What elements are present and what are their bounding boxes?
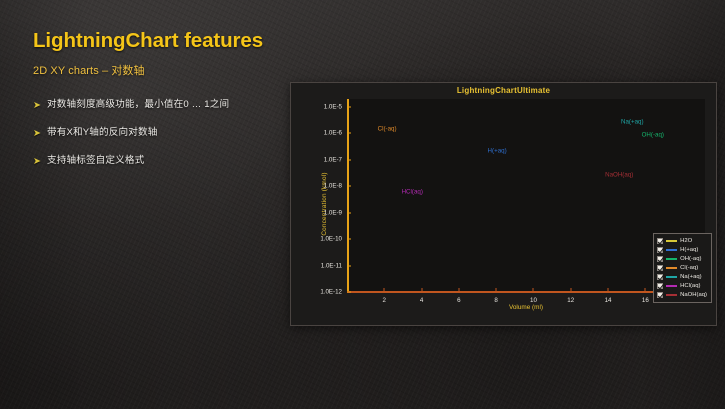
y-axis-line [347, 99, 349, 292]
legend-label: NaOH(aq) [680, 291, 707, 299]
bullet-text: 对数轴刻度高级功能，最小值在0 … 1之间 [47, 99, 229, 111]
legend-label: Cl(-aq) [680, 264, 698, 272]
legend-color-swatch [666, 258, 677, 260]
x-axis-tick-label: 14 [605, 297, 612, 304]
bullet-text: 带有X和Y轴的反向对数轴 [47, 127, 158, 139]
x-axis-tick-label: 4 [420, 297, 423, 304]
x-axis-title: Volume (ml) [509, 304, 543, 311]
bullet-list: ➤对数轴刻度高级功能，最小值在0 … 1之间➤带有X和Y轴的反向对数轴➤支持轴标… [33, 99, 281, 169]
x-axis-line [347, 291, 705, 293]
bullet-arrow-icon: ➤ [33, 155, 41, 169]
legend-checkbox-icon[interactable] [657, 238, 663, 244]
plot-background [347, 99, 705, 292]
y-axis-tick-label: 1.0E-5 [324, 103, 342, 110]
y-axis-tick-mark [347, 239, 351, 240]
y-axis-tick-label: 1.0E-8 [324, 183, 342, 190]
x-axis-tick-mark [533, 288, 534, 292]
bullet-item: ➤带有X和Y轴的反向对数轴 [33, 127, 281, 141]
y-axis-tick-mark [347, 292, 351, 293]
slide-text-column: LightningChart features 2D XY charts – 对… [33, 30, 281, 183]
y-axis-tick-mark [347, 133, 351, 134]
legend-color-swatch [666, 240, 677, 242]
legend-item[interactable]: NaOH(aq) [657, 291, 707, 299]
bullet-text: 支持轴标签自定义格式 [47, 155, 144, 167]
x-axis-tick-label: 12 [567, 297, 574, 304]
legend-label: HCl(aq) [680, 282, 700, 290]
x-axis-tick-mark [384, 288, 385, 292]
x-axis-tick-mark [458, 288, 459, 292]
legend-label: H2O [680, 237, 692, 245]
legend-label: OH(-aq) [680, 255, 701, 263]
x-axis-tick-mark [496, 288, 497, 292]
legend-checkbox-icon[interactable] [657, 283, 663, 289]
y-axis-tick-label: 1.0E-6 [324, 130, 342, 137]
plot-area[interactable]: 1.0E-51.0E-61.0E-71.0E-81.0E-91.0E-101.0… [347, 99, 705, 292]
legend-checkbox-icon[interactable] [657, 256, 663, 262]
page-title: LightningChart features [33, 30, 281, 53]
legend-checkbox-icon[interactable] [657, 292, 663, 298]
legend-item[interactable]: OH(-aq) [657, 255, 707, 263]
y-axis-tick-label: 1.0E-11 [321, 262, 342, 269]
legend-checkbox-icon[interactable] [657, 247, 663, 253]
legend-label: H(+aq) [680, 246, 698, 254]
x-axis-tick-mark [608, 288, 609, 292]
x-axis-tick-label: 6 [457, 297, 460, 304]
x-axis-tick-mark [570, 288, 571, 292]
legend-checkbox-icon[interactable] [657, 265, 663, 271]
legend-color-swatch [666, 294, 677, 296]
y-axis-tick-mark [347, 106, 351, 107]
chart-panel[interactable]: LightningChartUltimate Concentration (km… [290, 82, 717, 326]
y-axis-tick-mark [347, 159, 351, 160]
x-axis-tick-mark [421, 288, 422, 292]
legend-item[interactable]: HCl(aq) [657, 282, 707, 290]
legend-item[interactable]: H(+aq) [657, 246, 707, 254]
bullet-arrow-icon: ➤ [33, 99, 41, 113]
chart-legend[interactable]: H2OH(+aq)OH(-aq)Cl(-aq)Na(+aq)HCl(aq)NaO… [653, 233, 712, 303]
legend-label: Na(+aq) [680, 273, 701, 281]
y-axis-tick-label: 1.0E-12 [320, 289, 342, 296]
bullet-item: ➤对数轴刻度高级功能，最小值在0 … 1之间 [33, 99, 281, 113]
legend-color-swatch [666, 276, 677, 278]
x-axis-tick-label: 16 [642, 297, 649, 304]
y-axis-tick-label: 1.0E-7 [324, 156, 342, 163]
x-axis-tick-label: 8 [494, 297, 497, 304]
legend-item[interactable]: Na(+aq) [657, 273, 707, 281]
legend-checkbox-icon[interactable] [657, 274, 663, 280]
y-axis-tick-label: 1.0E-10 [320, 236, 342, 243]
legend-color-swatch [666, 249, 677, 251]
legend-color-swatch [666, 267, 677, 269]
y-axis-tick-mark [347, 212, 351, 213]
legend-item[interactable]: H2O [657, 237, 707, 245]
y-axis-tick-mark [347, 186, 351, 187]
legend-color-swatch [666, 285, 677, 287]
x-axis-tick-label: 10 [530, 297, 537, 304]
y-axis-tick-mark [347, 265, 351, 266]
x-axis-tick-mark [645, 288, 646, 292]
legend-item[interactable]: Cl(-aq) [657, 264, 707, 272]
chart-title: LightningChartUltimate [291, 86, 716, 95]
bullet-arrow-icon: ➤ [33, 127, 41, 141]
bullet-item: ➤支持轴标签自定义格式 [33, 155, 281, 169]
x-axis-tick-label: 2 [383, 297, 386, 304]
y-axis-tick-label: 1.0E-9 [324, 209, 342, 216]
page-subtitle: 2D XY charts – 对数轴 [33, 62, 281, 78]
